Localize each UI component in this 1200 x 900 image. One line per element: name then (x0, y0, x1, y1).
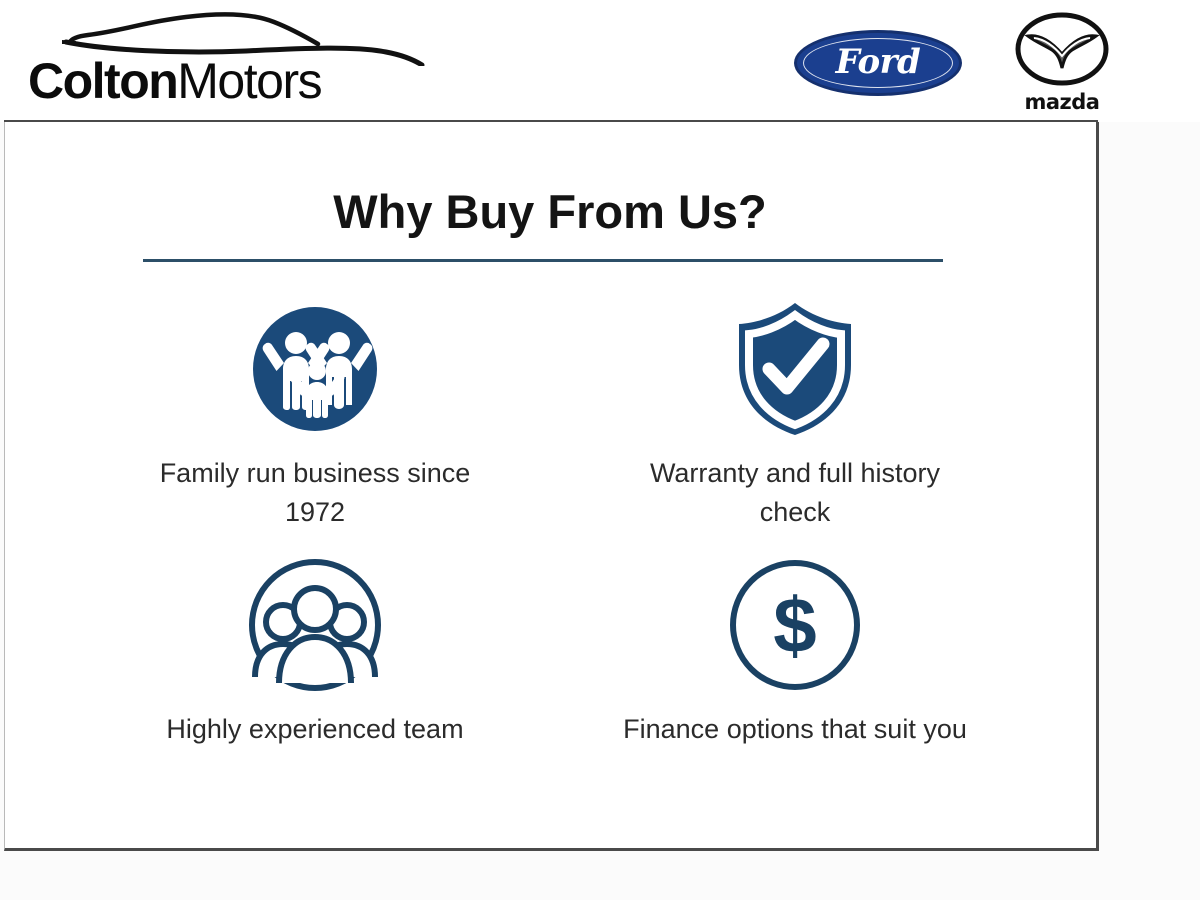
feature-icon-wrap: $ (728, 550, 862, 700)
content-panel: Why Buy From Us? (4, 122, 1099, 851)
feature-label: Finance options that suit you (613, 710, 978, 749)
oem-logo-group: Ford mazda (794, 12, 1114, 114)
feature-item-warranty[interactable]: Warranty and full history check (555, 294, 1035, 550)
title-divider (143, 259, 943, 262)
brand-wordmark: ColtonMotors (28, 56, 321, 106)
mazda-logo[interactable]: mazda (1010, 12, 1114, 114)
page-header: ColtonMotors Ford mazda (0, 0, 1200, 122)
feature-icon-wrap (251, 294, 379, 444)
features-grid: Family run business since 1972 Warranty … (75, 294, 1035, 806)
ford-logo[interactable]: Ford (794, 30, 962, 96)
feature-icon-wrap (245, 550, 385, 700)
family-icon (251, 305, 379, 433)
feature-icon-wrap (729, 294, 861, 444)
svg-text:$: $ (773, 581, 816, 669)
feature-item-family[interactable]: Family run business since 1972 (75, 294, 555, 550)
brand-name-light: Motors (177, 53, 321, 109)
team-people-icon (245, 555, 385, 695)
feature-label: Family run business since 1972 (133, 454, 498, 532)
feature-item-team[interactable]: Highly experienced team (75, 550, 555, 806)
feature-item-finance[interactable]: $ Finance options that suit you (555, 550, 1035, 806)
ford-wordmark: Ford (794, 30, 962, 96)
dollar-circle-icon: $ (728, 558, 862, 692)
mazda-wing-icon (1014, 12, 1110, 86)
brand-name-bold: Colton (28, 53, 177, 109)
slide-page: ColtonMotors Ford mazda Why Buy From Us? (0, 0, 1200, 900)
feature-label: Warranty and full history check (613, 454, 978, 532)
feature-label: Highly experienced team (133, 710, 498, 749)
page-title: Why Buy From Us? (5, 184, 1095, 239)
shield-check-icon (729, 299, 861, 439)
colton-motors-logo[interactable]: ColtonMotors (28, 8, 438, 116)
mazda-wordmark: mazda (1010, 90, 1114, 114)
